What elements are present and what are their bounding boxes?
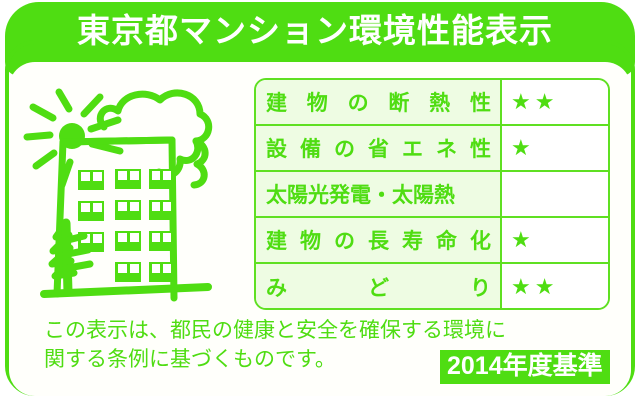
illustration-svg bbox=[22, 80, 247, 310]
environment-performance-label: 東京都マンション環境性能表示 bbox=[0, 0, 640, 400]
rating-stars-longevity: ★ bbox=[502, 218, 608, 262]
table-row: 建 物 の 断 熱 性 ★★ bbox=[256, 80, 608, 126]
ratings-table: 建 物 の 断 熱 性 ★★ 設 備 の 省 エ ネ 性 ★ 太陽光 bbox=[254, 78, 610, 310]
rating-stars-energy-saving: ★ bbox=[502, 126, 608, 170]
rating-label-energy-saving: 設 備 の 省 エ ネ 性 bbox=[256, 126, 502, 170]
table-row: み ど り ★★ bbox=[256, 264, 608, 310]
table-row: 建 物 の 長 寿 命 化 ★ bbox=[256, 218, 608, 264]
footer-note-line1: この表示は、都民の健康と安全を確保する環境に bbox=[44, 319, 506, 342]
standard-year-badge: 2014年度基準 bbox=[440, 350, 610, 384]
table-row: 太陽光発電・太陽熱 bbox=[256, 172, 608, 218]
rating-label-longevity: 建 物 の 長 寿 命 化 bbox=[256, 218, 502, 262]
rating-stars-insulation: ★★ bbox=[502, 80, 608, 124]
eco-apartment-illustration bbox=[22, 80, 247, 310]
rating-stars-greenery: ★★ bbox=[502, 264, 608, 310]
rating-stars-solar bbox=[502, 172, 608, 216]
rating-label-solar: 太陽光発電・太陽熱 bbox=[256, 172, 502, 216]
rating-label-greenery: み ど り bbox=[256, 264, 502, 310]
table-row: 設 備 の 省 エ ネ 性 ★ bbox=[256, 126, 608, 172]
page-title: 東京都マンション環境性能表示 bbox=[0, 9, 630, 53]
rating-label-insulation: 建 物 の 断 熱 性 bbox=[256, 80, 502, 124]
